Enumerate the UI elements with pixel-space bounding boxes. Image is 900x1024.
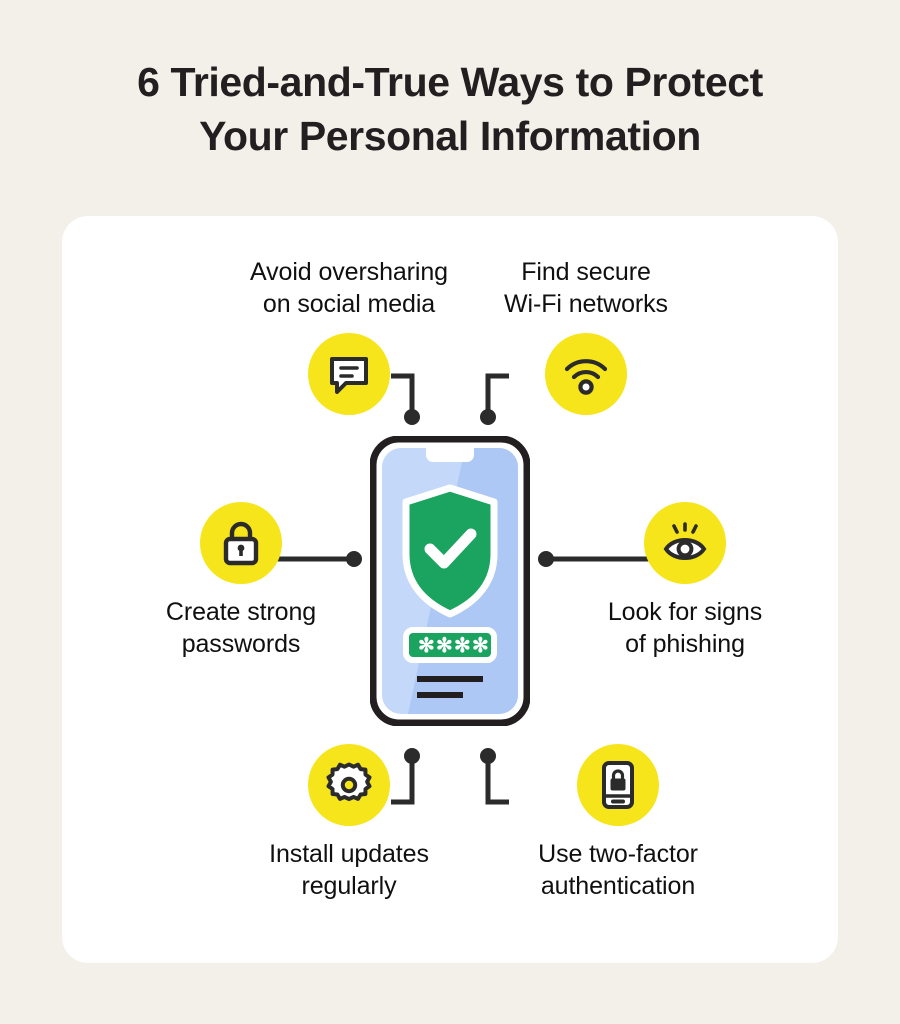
padlock-icon <box>219 519 263 567</box>
feature-social-label: Avoid oversharing on social media <box>250 257 448 320</box>
phone-graphic: ✻ ✻ ✻ ✻ <box>370 436 530 726</box>
feature-wifi-badge <box>545 333 627 415</box>
feature-twofa[interactable]: Use two-factor authentication <box>483 744 753 902</box>
password-dot: ✻ <box>418 635 435 657</box>
shield-check-icon <box>406 488 494 614</box>
speech-bubble-icon <box>326 351 372 397</box>
feature-phishing-label: Look for signs of phishing <box>608 597 762 660</box>
feature-phishing-badge <box>644 502 726 584</box>
phone-illustration: ✻ ✻ ✻ ✻ <box>370 436 530 726</box>
feature-updates[interactable]: Install updates regularly <box>214 744 484 902</box>
feature-updates-badge <box>308 744 390 826</box>
password-dot: ✻ <box>472 635 489 657</box>
feature-password[interactable]: Create strong passwords <box>106 502 376 660</box>
password-dot: ✻ <box>454 635 471 657</box>
feature-twofa-label: Use two-factor authentication <box>538 839 698 902</box>
feature-wifi-label: Find secure Wi-Fi networks <box>504 257 668 320</box>
feature-phishing[interactable]: Look for signs of phishing <box>550 502 820 660</box>
feature-social[interactable]: Avoid oversharing on social media <box>214 257 484 415</box>
eye-icon <box>660 521 710 565</box>
feature-twofa-badge <box>577 744 659 826</box>
password-dot: ✻ <box>436 635 453 657</box>
page-title: 6 Tried-and-True Ways to Protect Your Pe… <box>0 55 900 163</box>
infographic-card: Avoid oversharing on social media Find s… <box>62 216 838 963</box>
feature-password-badge <box>200 502 282 584</box>
phone-lock-icon <box>599 760 637 810</box>
feature-wifi[interactable]: Find secure Wi-Fi networks <box>451 257 721 415</box>
gear-icon <box>325 761 373 809</box>
feature-password-label: Create strong passwords <box>166 597 316 660</box>
password-field: ✻ ✻ ✻ ✻ <box>406 630 494 660</box>
feature-updates-label: Install updates regularly <box>269 839 429 902</box>
wifi-icon <box>562 352 610 396</box>
feature-social-badge <box>308 333 390 415</box>
diagram-stage: Avoid oversharing on social media Find s… <box>62 216 838 963</box>
